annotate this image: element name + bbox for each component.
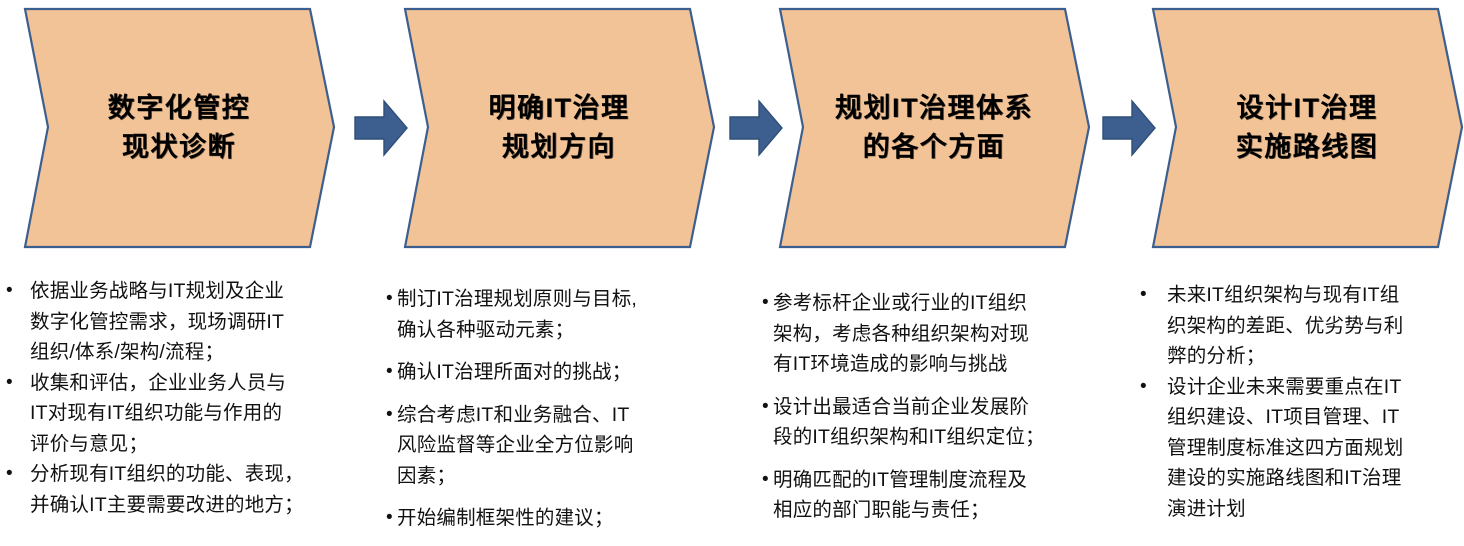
bullet-marker: •	[6, 368, 30, 399]
list-item: • 开始编制框架性的建议；	[386, 503, 726, 534]
chevron-shape-icon	[22, 6, 336, 250]
bullet-marker: •	[6, 276, 30, 307]
list-item: • 确认IT治理所面对的挑战；	[386, 357, 726, 388]
step-details-column-2: • 制订IT治理规划原则与目标, 确认各种驱动元素； • 确认IT治理所面对的挑…	[386, 284, 726, 546]
list-item-text: 未来IT组织架构与现有IT组 织架构的差距、优劣势与利 弊的分析；	[1167, 280, 1460, 372]
bullet-marker: •	[1140, 280, 1167, 311]
right-arrow-icon	[1101, 98, 1157, 158]
chevron-shape-icon	[402, 6, 716, 250]
list-item: • 收集和评估，企业业务人员与 IT对现有IT组织功能与作用的 评价与意见；	[6, 368, 352, 460]
right-arrow-icon	[728, 98, 784, 158]
right-arrow-icon	[353, 98, 409, 158]
list-item: • 设计企业未来需要重点在IT 组织建设、IT项目管理、IT 管理制度标准这四方…	[1140, 372, 1460, 525]
bullet-marker: •	[762, 392, 773, 423]
bullet-marker: •	[1140, 372, 1167, 403]
process-step-chevron-4[interactable]: 设计IT治理 实施路线图	[1150, 6, 1464, 250]
list-item-text: 收集和评估，企业业务人员与 IT对现有IT组织功能与作用的 评价与意见；	[30, 368, 352, 460]
right-arrow-icon-3	[1101, 98, 1157, 158]
step-details-column-3: • 参考标杆企业或行业的IT组织 架构，考虑各种组织架构对现 有IT环境造成的影…	[762, 288, 1110, 538]
list-item-text: 制订IT治理规划原则与目标, 确认各种驱动元素；	[397, 284, 726, 345]
bullet-marker: •	[386, 357, 397, 388]
step-details-band: • 依据业务战略与IT规划及企业 数字化管控需求，现场调研IT 组织/体系/架构…	[0, 262, 1464, 524]
list-item: • 未来IT组织架构与现有IT组 织架构的差距、优劣势与利 弊的分析；	[1140, 280, 1460, 372]
list-item: • 制订IT治理规划原则与目标, 确认各种驱动元素；	[386, 284, 726, 345]
list-item-text: 设计出最适合当前企业发展阶 段的IT组织架构和IT组织定位；	[773, 392, 1110, 453]
list-item: • 依据业务战略与IT规划及企业 数字化管控需求，现场调研IT 组织/体系/架构…	[6, 276, 352, 368]
process-chevron-band: 数字化管控 现状诊断 明确IT治理 规划方向	[0, 0, 1464, 262]
step-details-column-1: • 依据业务战略与IT规划及企业 数字化管控需求，现场调研IT 组织/体系/架构…	[6, 276, 352, 520]
list-item-text: 综合考虑IT和业务融合、IT 风险监督等企业全方位影响 因素；	[397, 400, 726, 492]
bullet-marker: •	[386, 503, 397, 534]
list-item: • 分析现有IT组织的功能、表现， 并确认IT主要需要改进的地方；	[6, 459, 352, 520]
right-arrow-icon-2	[728, 98, 784, 158]
list-item-text: 确认IT治理所面对的挑战；	[397, 357, 726, 388]
bullet-marker: •	[762, 465, 773, 496]
process-step-chevron-1[interactable]: 数字化管控 现状诊断	[22, 6, 336, 250]
bullet-marker: •	[6, 459, 30, 490]
list-item-text: 开始编制框架性的建议；	[397, 503, 726, 534]
bullet-marker: •	[386, 400, 397, 431]
chevron-shape-icon	[777, 6, 1091, 250]
right-arrow-icon-1	[353, 98, 409, 158]
list-item: • 综合考虑IT和业务融合、IT 风险监督等企业全方位影响 因素；	[386, 400, 726, 492]
list-item: • 设计出最适合当前企业发展阶 段的IT组织架构和IT组织定位；	[762, 392, 1110, 453]
process-step-chevron-3[interactable]: 规划IT治理体系 的各个方面	[777, 6, 1091, 250]
process-step-chevron-2[interactable]: 明确IT治理 规划方向	[402, 6, 716, 250]
list-item-text: 参考标杆企业或行业的IT组织 架构，考虑各种组织架构对现 有IT环境造成的影响与…	[773, 288, 1110, 380]
slide-canvas: 数字化管控 现状诊断 明确IT治理 规划方向	[0, 0, 1464, 524]
list-item: • 明确匹配的IT管理制度流程及 相应的部门职能与责任；	[762, 465, 1110, 526]
list-item-text: 设计企业未来需要重点在IT 组织建设、IT项目管理、IT 管理制度标准这四方面规…	[1167, 372, 1460, 525]
bullet-marker: •	[762, 288, 773, 319]
step-details-column-4: • 未来IT组织架构与现有IT组 织架构的差距、优劣势与利 弊的分析； • 设计…	[1140, 280, 1460, 524]
chevron-shape-icon	[1150, 6, 1464, 250]
list-item: • 参考标杆企业或行业的IT组织 架构，考虑各种组织架构对现 有IT环境造成的影…	[762, 288, 1110, 380]
list-item-text: 明确匹配的IT管理制度流程及 相应的部门职能与责任；	[773, 465, 1110, 526]
list-item-text: 分析现有IT组织的功能、表现， 并确认IT主要需要改进的地方；	[30, 459, 352, 520]
list-item-text: 依据业务战略与IT规划及企业 数字化管控需求，现场调研IT 组织/体系/架构/流…	[30, 276, 352, 368]
bullet-marker: •	[386, 284, 397, 315]
